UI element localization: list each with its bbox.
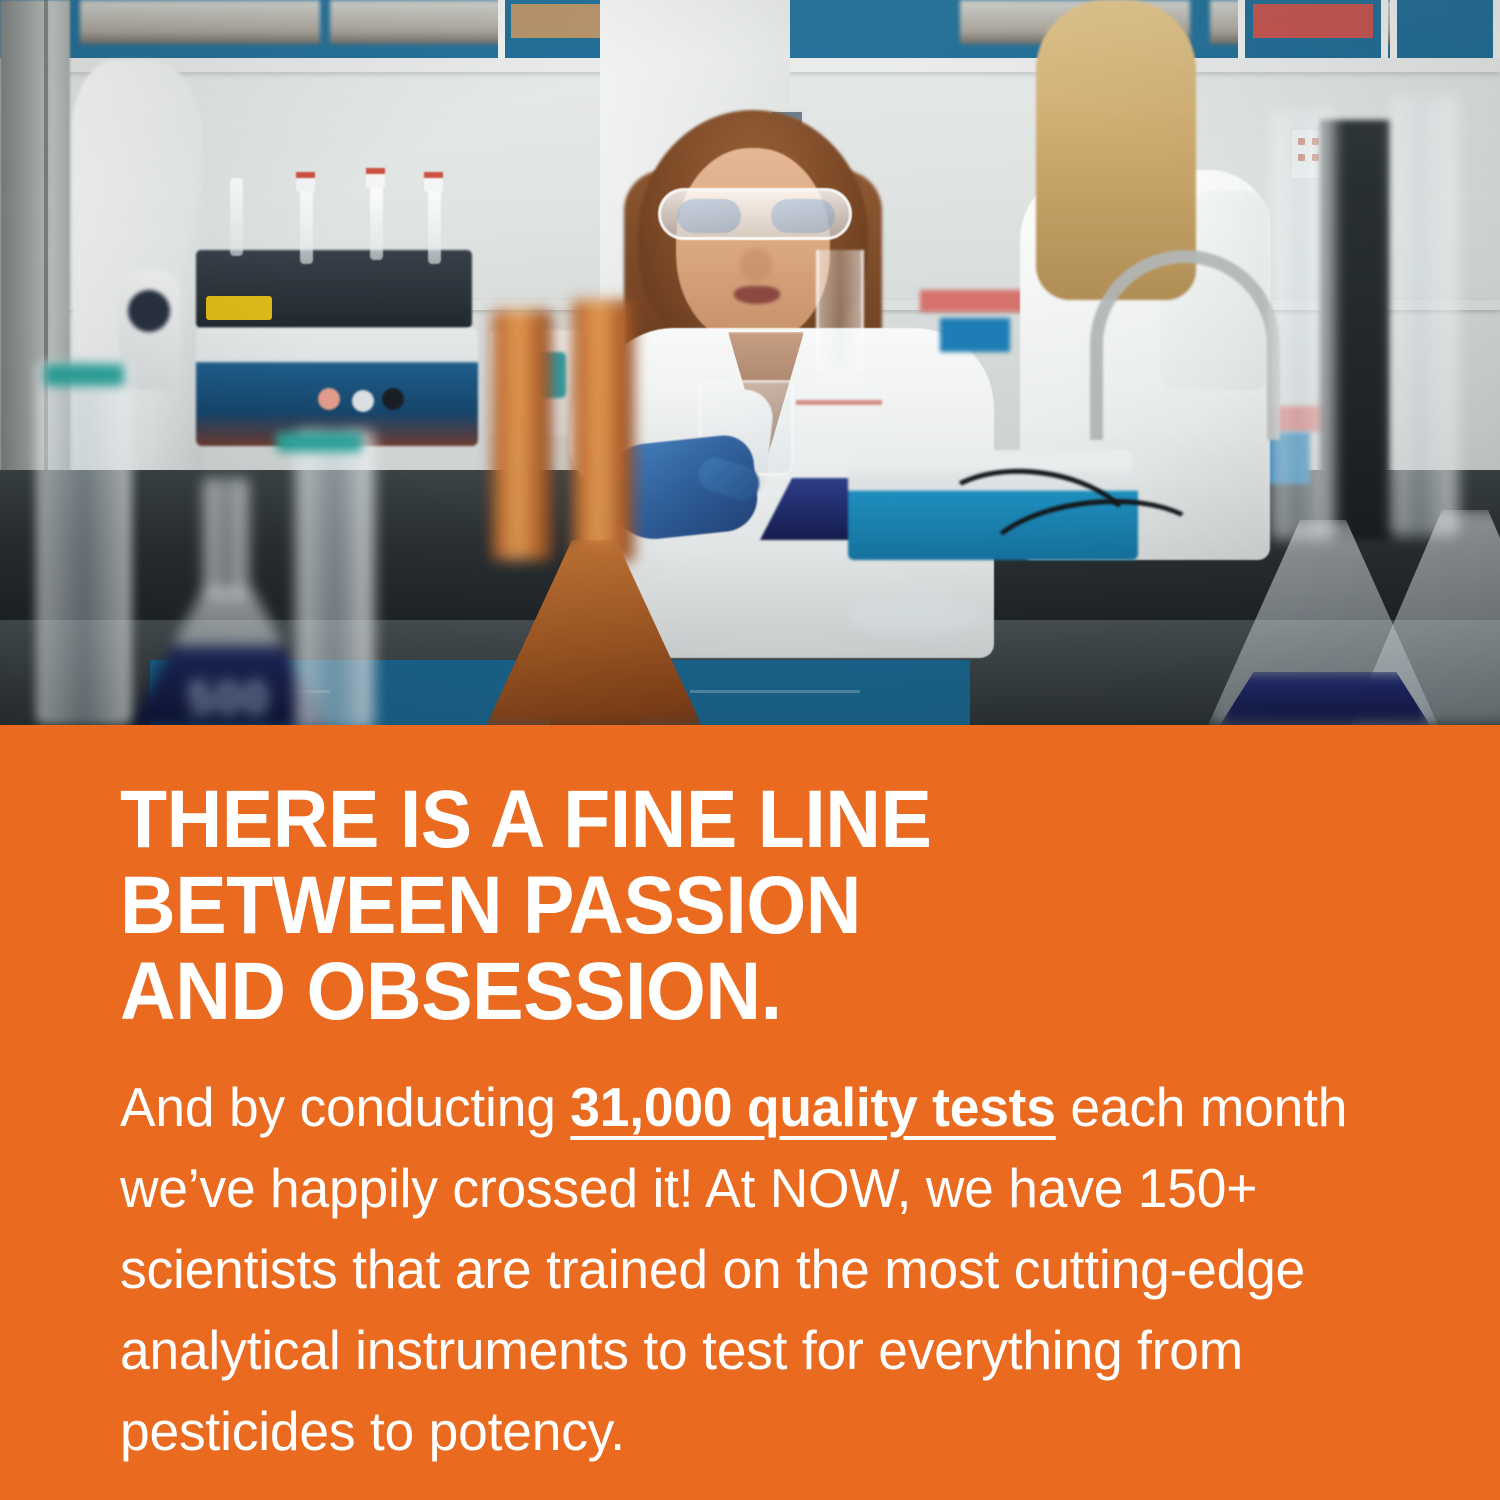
blue-tray <box>940 318 1010 352</box>
goggle-lens-right <box>771 199 835 233</box>
orange-text-panel: THERE IS A FINE LINE BETWEEN PASSION AND… <box>0 725 1500 1500</box>
grey-hose <box>1090 250 1280 440</box>
flask-neck <box>204 478 248 598</box>
instrument-knob <box>352 390 374 412</box>
foreground-cap-teal <box>276 432 362 452</box>
sample-tube <box>300 186 313 264</box>
quality-tests-highlight: 31,000 quality tests <box>570 1076 1055 1138</box>
foreground-glass-left <box>36 360 132 725</box>
body-paragraph: And by conducting 31,000 quality tests e… <box>120 1067 1357 1472</box>
foreground-flask-neck <box>1272 110 1334 540</box>
technician-left-hand <box>128 290 170 332</box>
poster-root: 500 THERE IS A FINE LINE BETWEEN PASSION… <box>0 0 1500 1500</box>
petri-dish <box>848 600 978 634</box>
headline: THERE IS A FINE LINE BETWEEN PASSION AND… <box>120 777 1304 1035</box>
amber-glassware-neck <box>572 300 634 562</box>
tube-septum <box>424 172 443 178</box>
flask-neck <box>816 250 864 370</box>
instrument-indicator <box>318 388 340 410</box>
safety-goggles <box>658 188 852 240</box>
shelf-contents <box>80 0 320 44</box>
sample-tube <box>428 186 441 264</box>
photo-scene: 500 <box>0 0 1500 725</box>
instrument-yellow-label <box>206 296 272 320</box>
tube-cap <box>424 176 443 192</box>
laboratory-photo: 500 <box>0 0 1500 725</box>
flask-volume-label: 500 <box>170 674 288 722</box>
foreground-flask-neck <box>1392 96 1458 536</box>
analytical-instrument <box>196 328 478 446</box>
tube-septum <box>296 172 315 178</box>
goggle-lens-left <box>677 199 741 233</box>
amber-glassware-neck <box>492 310 552 560</box>
sample-tube <box>370 182 383 260</box>
body-text-before-highlight: And by conducting <box>120 1076 570 1138</box>
tube-cap <box>366 172 385 188</box>
instrument-knob <box>382 388 404 410</box>
tube-septum <box>366 168 385 174</box>
cabinet-door <box>1390 0 1500 58</box>
drawer-handle <box>690 690 860 693</box>
foreground-glass-cylinder <box>296 430 374 725</box>
foreground-flask-liquid <box>1220 672 1430 725</box>
sample-tube <box>230 178 243 256</box>
tube-cap <box>296 176 315 192</box>
cabinet-door <box>1238 0 1388 58</box>
flask-graduation-mark <box>796 400 882 405</box>
foreground-cap-teal <box>44 364 124 386</box>
